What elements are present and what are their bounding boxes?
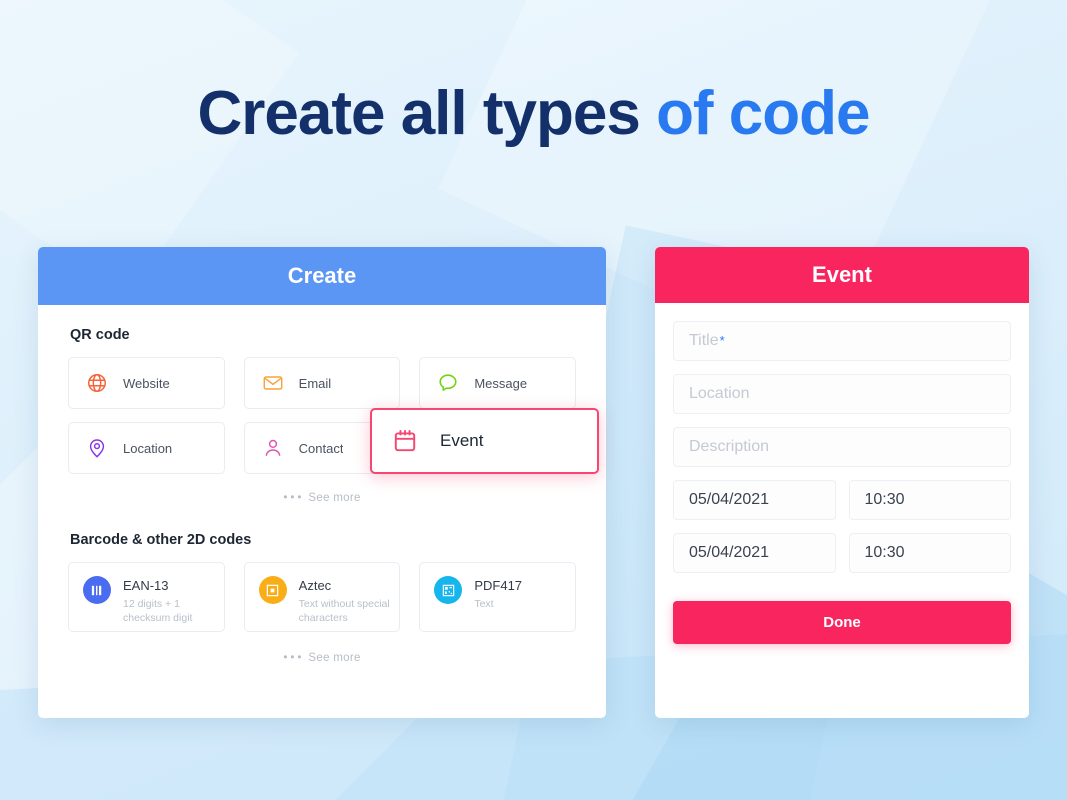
event-end-time-input[interactable]: 10:30 <box>849 533 1012 573</box>
barcode-tile-aztec[interactable]: Aztec Text without special characters <box>244 562 401 632</box>
barcode-tile-aztec-desc: Text without special characters <box>299 598 392 626</box>
barcode-tile-pdf417[interactable]: PDF417 Text <box>419 562 576 632</box>
qr-tile-event-selected[interactable]: Event <box>370 408 599 474</box>
qr-tile-email-label: Email <box>299 376 332 391</box>
barcode-tile-ean13-name: EAN-13 <box>123 578 169 593</box>
barcode-tile-ean13[interactable]: EAN-13 12 digits + 1 checksum digit <box>68 562 225 632</box>
barcode-tile-ean13-text: EAN-13 12 digits + 1 checksum digit <box>123 576 216 626</box>
page-title-accent: of code <box>656 79 869 148</box>
qr-tile-website[interactable]: Website <box>68 357 225 409</box>
barcode-tile-aztec-name: Aztec <box>299 578 332 593</box>
barcode-tile-pdf417-text: PDF417 Text <box>474 576 522 612</box>
qr-tile-message-label: Message <box>474 376 527 391</box>
qr-tile-location[interactable]: Location <box>68 422 225 474</box>
barcode-section-title: Barcode & other 2D codes <box>70 532 576 548</box>
qr-section-title: QR code <box>70 327 576 343</box>
event-end-row: 05/04/2021 10:30 <box>673 533 1011 586</box>
chat-bubble-icon <box>436 371 460 395</box>
barcode-see-more-button[interactable]: •••See more <box>68 652 576 664</box>
envelope-icon <box>261 371 285 395</box>
globe-icon <box>85 371 109 395</box>
calendar-icon <box>392 428 418 454</box>
event-start-date-input[interactable]: 05/04/2021 <box>673 480 836 520</box>
qr-tile-message[interactable]: Message <box>419 357 576 409</box>
page-title: Create all types of code <box>0 78 1067 149</box>
create-card: Create QR code Website <box>38 247 606 718</box>
qr-tile-contact-label: Contact <box>299 441 344 456</box>
event-location-input[interactable]: Location <box>673 374 1011 414</box>
event-title-input[interactable]: Title* <box>673 321 1011 361</box>
barcode-icon <box>83 576 111 604</box>
person-icon <box>261 436 285 460</box>
event-description-input[interactable]: Description <box>673 427 1011 467</box>
barcode-see-more-dots: ••• <box>283 652 304 664</box>
barcode-tile-ean13-desc: 12 digits + 1 checksum digit <box>123 598 216 626</box>
qr-tile-event-label: Event <box>440 431 483 451</box>
event-card-header: Event <box>655 247 1029 303</box>
qr-tile-email[interactable]: Email <box>244 357 401 409</box>
page-title-primary: Create all types <box>197 79 656 148</box>
barcode-tile-pdf417-name: PDF417 <box>474 578 522 593</box>
done-button[interactable]: Done <box>673 601 1011 644</box>
qr-tile-location-label: Location <box>123 441 172 456</box>
event-end-date-input[interactable]: 05/04/2021 <box>673 533 836 573</box>
qr-tile-row-2: Location Contact <box>68 422 576 474</box>
create-card-header: Create <box>38 247 606 305</box>
qr-see-more-dots: ••• <box>283 492 304 504</box>
event-title-placeholder: Title <box>689 332 719 350</box>
event-start-time-input[interactable]: 10:30 <box>849 480 1012 520</box>
event-form-card: Event Title* Location Description 05/04/… <box>655 247 1029 718</box>
qr-tile-row-1: Website Email Message <box>68 357 576 409</box>
barcode-tile-aztec-text: Aztec Text without special characters <box>299 576 392 626</box>
map-pin-icon <box>85 436 109 460</box>
qr-tile-website-label: Website <box>123 376 170 391</box>
qr-see-more-button[interactable]: •••See more <box>68 492 576 504</box>
pdf417-icon <box>434 576 462 604</box>
event-start-row: 05/04/2021 10:30 <box>673 480 1011 533</box>
barcode-see-more-label: See more <box>308 652 360 664</box>
event-card-body: Title* Location Description 05/04/2021 1… <box>655 303 1029 644</box>
create-card-body: QR code Website <box>38 305 606 664</box>
aztec-icon <box>259 576 287 604</box>
qr-see-more-label: See more <box>308 492 360 504</box>
barcode-tile-pdf417-desc: Text <box>474 598 522 612</box>
barcode-tile-row: EAN-13 12 digits + 1 checksum digit Azte… <box>68 562 576 632</box>
